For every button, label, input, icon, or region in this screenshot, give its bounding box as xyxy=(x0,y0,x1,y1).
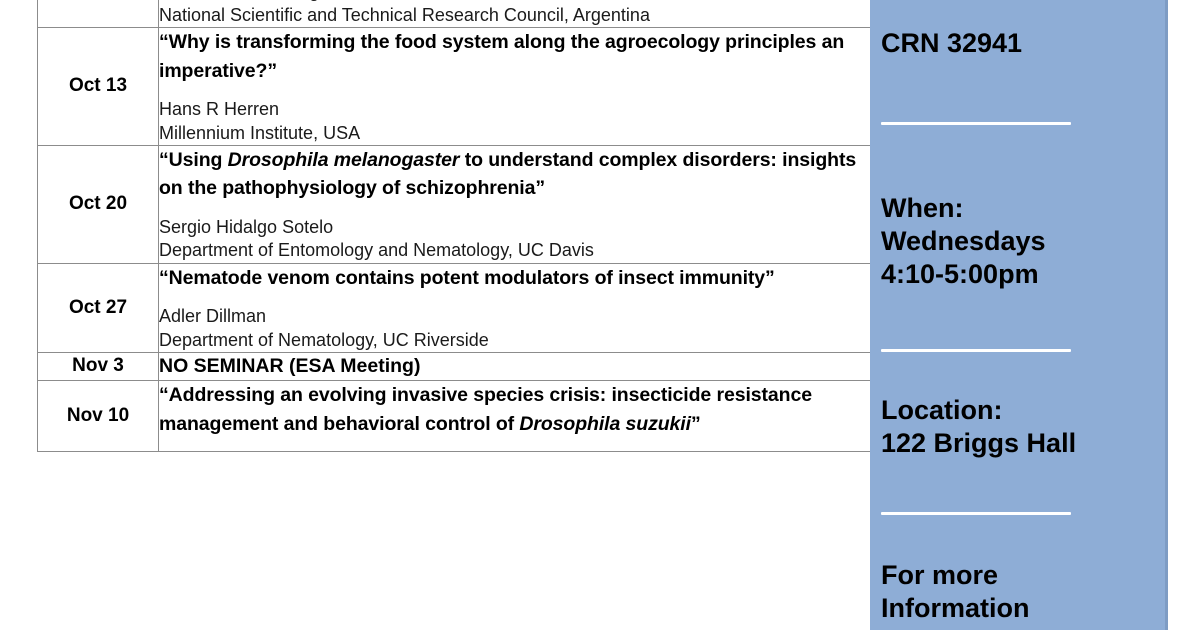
talk-title: “Nematode venom contains potent modulato… xyxy=(159,264,870,292)
table-row: Oct 27 “Nematode venom contains potent m… xyxy=(38,263,871,352)
table-row: Oct 20 “Using Drosophila melanogaster to… xyxy=(38,145,871,263)
talk-speaker-block: Sergio Hidalgo Sotelo Department of Ento… xyxy=(159,216,870,263)
row-date-cell: Oct 27 xyxy=(38,263,159,352)
seminar-schedule-table: Oct 6 Virtual Evidence from a South Amer… xyxy=(37,0,871,452)
talk-title: “Why is transforming the food system alo… xyxy=(159,28,870,85)
table-row: Nov 10 “Addressing an evolving invasive … xyxy=(38,381,871,452)
row-body-cell: “Using Drosophila melanogaster to unders… xyxy=(159,145,871,263)
row-date-cell: Oct 13 xyxy=(38,28,159,146)
location-value: 122 Briggs Hall xyxy=(881,427,1161,460)
more-info-line-2: Information xyxy=(881,592,1161,625)
table-row: Oct 6 Virtual Evidence from a South Amer… xyxy=(38,0,871,28)
speaker-name: Sergio Hidalgo Sotelo xyxy=(159,217,333,237)
row-date: Oct 20 xyxy=(69,193,127,214)
when-day: Wednesdays xyxy=(881,225,1161,258)
row-body-cell: NO SEMINAR (ESA Meeting) xyxy=(159,352,871,380)
when-label: When: xyxy=(881,192,1161,225)
row-date: Oct 27 xyxy=(69,297,127,318)
speaker-affiliation: Millennium Institute, USA xyxy=(159,122,870,145)
row-date-cell: Oct 20 xyxy=(38,145,159,263)
sidebar-divider xyxy=(881,512,1071,515)
row-body-cell: Evidence from a South American city” Mar… xyxy=(159,0,871,28)
speaker-affiliation: National Scientific and Technical Resear… xyxy=(159,4,870,27)
location-block: Location: 122 Briggs Hall xyxy=(881,394,1161,460)
speaker-name: Hans R Herren xyxy=(159,99,279,119)
row-date-cell: Oct 6 Virtual xyxy=(38,0,159,28)
seminar-schedule-poster: Oct 6 Virtual Evidence from a South Amer… xyxy=(0,0,1200,630)
speaker-name: Adler Dillman xyxy=(159,306,266,326)
sidebar-divider xyxy=(881,349,1071,352)
talk-speaker-block: María Silvina Fenoglio National Scientif… xyxy=(159,0,870,27)
talk-speaker-block: Hans R Herren Millennium Institute, USA xyxy=(159,98,870,145)
no-seminar-notice: NO SEMINAR (ESA Meeting) xyxy=(159,353,870,380)
info-sidebar: CRN 32941 When: Wednesdays 4:10-5:00pm L… xyxy=(870,0,1168,630)
more-info-line-1: For more xyxy=(881,559,1161,592)
row-date: Oct 13 xyxy=(69,75,127,96)
row-body-cell: “Addressing an evolving invasive species… xyxy=(159,381,871,452)
row-date: Nov 10 xyxy=(67,405,129,426)
row-date-cell: Nov 10 xyxy=(38,381,159,452)
when-block: When: Wednesdays 4:10-5:00pm xyxy=(881,192,1161,291)
row-virtual-badge: Virtual xyxy=(38,0,158,7)
row-body-cell: “Why is transforming the food system alo… xyxy=(159,28,871,146)
row-date-cell: Nov 3 xyxy=(38,352,159,380)
row-date: Nov 3 xyxy=(72,355,124,376)
schedule-rows: Oct 6 Virtual Evidence from a South Amer… xyxy=(38,0,871,452)
sidebar-right-edge xyxy=(1165,0,1168,630)
location-label: Location: xyxy=(881,394,1161,427)
talk-title: “Using Drosophila melanogaster to unders… xyxy=(159,146,870,203)
table-row: Nov 3 NO SEMINAR (ESA Meeting) xyxy=(38,352,871,380)
speaker-name: María Silvina Fenoglio xyxy=(159,0,337,1)
when-time: 4:10-5:00pm xyxy=(881,258,1161,291)
speaker-affiliation: Department of Entomology and Nematology,… xyxy=(159,239,870,262)
crn-text: CRN 32941 xyxy=(881,27,1161,60)
more-info-block: For more Information xyxy=(881,559,1161,625)
talk-speaker-block: Adler Dillman Department of Nematology, … xyxy=(159,305,870,352)
speaker-affiliation: Department of Nematology, UC Riverside xyxy=(159,329,870,352)
sidebar-divider xyxy=(881,122,1071,125)
row-body-cell: “Nematode venom contains potent modulato… xyxy=(159,263,871,352)
talk-title: “Addressing an evolving invasive species… xyxy=(159,381,870,438)
table-row: Oct 13 “Why is transforming the food sys… xyxy=(38,28,871,146)
